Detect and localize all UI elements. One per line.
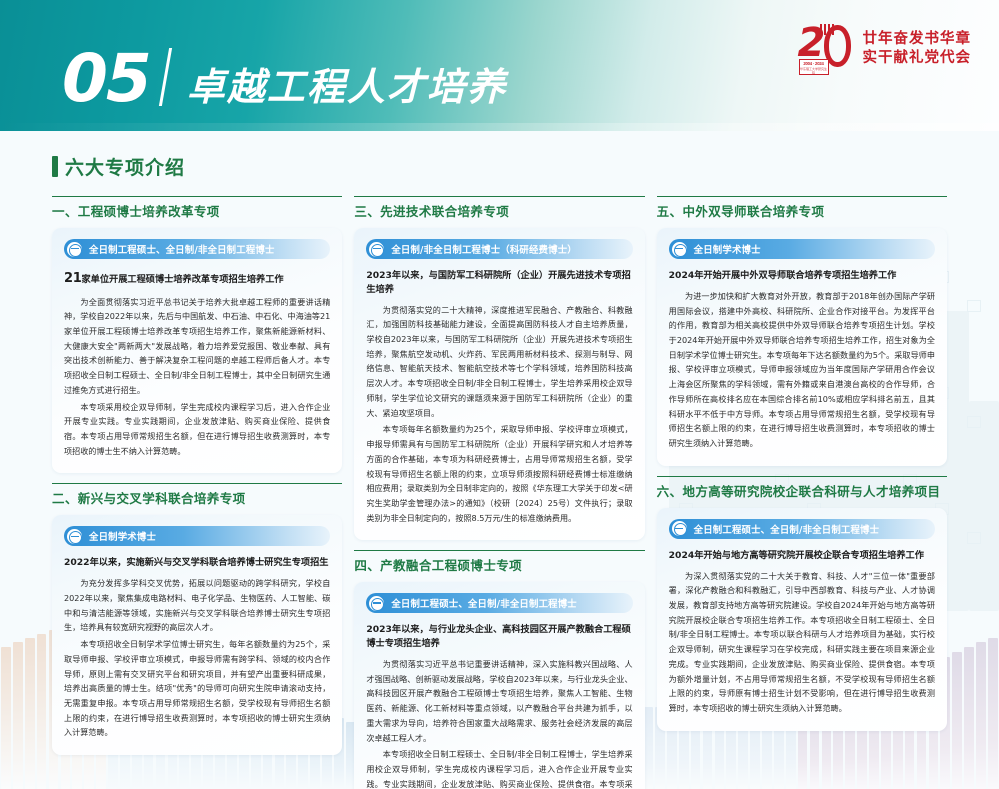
degree-type-icon [369, 242, 384, 257]
section-4-badge: 全日制工程硕士、全日制/非全日制工程博士 [366, 593, 632, 613]
page-title: 卓越工程人才培养 [187, 68, 507, 106]
section-5-card: 全日制学术博士 2024年开始开展中外双导师联合培养专项招生培养工作 为进一步加… [657, 228, 947, 466]
section-2-header: 二、新兴与交叉学科联合培养专项 [52, 483, 342, 506]
section-1-header: 一、工程硕博士培养改革专项 [52, 196, 342, 219]
anniversary-slogan: 廿年奋发书华章 实干献礼党代会 [863, 30, 972, 67]
section-1-heading: 一、工程硕博士培养改革专项 [52, 204, 342, 219]
section-1-lead-text: 家单位开展工程硕博士培养改革专项招生培养工作 [82, 274, 284, 285]
anniversary-mark-icon: 2 2004 · 2024 华东理工大学研究生院 [798, 22, 854, 76]
degree-type-icon [672, 242, 687, 257]
section-5-badge-label: 全日制学术博士 [694, 242, 761, 256]
sections-grid: 六大专项介绍 一、工程硕博士培养改革专项 全日制工程硕士、全日制/非全日制工程博… [0, 131, 999, 789]
section-2-badge-label: 全日制学术博士 [89, 529, 156, 543]
section-2-badge: 全日制学术博士 [64, 526, 330, 546]
column-2: 三、先进技术联合培养专项 全日制/非全日制工程博士（科研经费博士） 2023年以… [354, 153, 644, 789]
column-3: 五、中外双导师联合培养专项 全日制学术博士 2024年开始开展中外双导师联合培养… [657, 153, 947, 789]
section-6-badge-label: 全日制工程硕士、全日制/非全日制工程博士 [694, 522, 880, 536]
section-1: 一、工程硕博士培养改革专项 全日制工程硕士、全日制/非全日制工程博士 21家单位… [52, 196, 342, 473]
column-3-spacer [657, 153, 947, 196]
section-5-header: 五、中外双导师联合培养专项 [657, 196, 947, 219]
column-2-spacer [354, 153, 644, 196]
section-1-badge-label: 全日制工程硕士、全日制/非全日制工程博士 [89, 242, 275, 256]
section-3-paragraph-2: 本专项每年名额数量约为25个，采取导师申报、学校评审立项模式，申报导师需具有与国… [366, 422, 632, 525]
main-title: 六大专项介绍 [52, 153, 342, 179]
section-4-badge-label: 全日制工程硕士、全日制/非全日制工程博士 [391, 596, 577, 610]
section-6: 六、地方高等研究院校企联合科研与人才培养项目 全日制工程硕士、全日制/非全日制工… [657, 476, 947, 731]
section-5-paragraph-1: 为进一步加快和扩大教育对外开放，教育部于2018年创办国际产学研用国际会议，搭建… [669, 289, 935, 451]
section-4-card: 全日制工程硕士、全日制/非全日制工程博士 2023年以来，与行业龙头企业、高科技… [354, 582, 644, 789]
section-2-paragraph-2: 本专项招收全日制学术学位博士研究生，每年名额数量约为25个，采取导师申报、学校评… [64, 637, 330, 740]
section-3-badge: 全日制/非全日制工程博士（科研经费博士） [366, 239, 632, 259]
degree-type-icon [672, 521, 687, 536]
section-1-badge: 全日制工程硕士、全日制/非全日制工程博士 [64, 239, 330, 259]
section-5-heading: 五、中外双导师联合培养专项 [657, 204, 947, 219]
section-6-lead: 2024年开始与地方高等研究院开展校企联合专项招生培养工作 [669, 549, 935, 563]
section-4-paragraph-1: 为贯彻落实习近平总书记重要讲话精神，深入实施科教兴国战略、人才强国战略、创新驱动… [366, 657, 632, 745]
section-6-card: 全日制工程硕士、全日制/非全日制工程博士 2024年开始与地方高等研究院开展校企… [657, 508, 947, 731]
section-4: 四、产教融合工程硕博士专项 全日制工程硕士、全日制/非全日制工程博士 2023年… [354, 550, 644, 789]
section-number: 05 [62, 49, 150, 110]
section-4-paragraph-2: 本专项招收全日制工程硕士、全日制/非全日制工程博士，学生培养采用校企双导师制，学… [366, 747, 632, 789]
section-6-header: 六、地方高等研究院校企联合科研与人才培养项目 [657, 476, 947, 499]
section-1-paragraph-1: 为全面贯彻落实习近平总书记关于培养大批卓越工程师的重要讲话精神，学校自2022年… [64, 295, 330, 398]
page-body: 六大专项介绍 一、工程硕博士培养改革专项 全日制工程硕士、全日制/非全日制工程博… [0, 131, 999, 789]
degree-type-icon [369, 596, 384, 611]
column-1: 六大专项介绍 一、工程硕博士培养改革专项 全日制工程硕士、全日制/非全日制工程博… [52, 153, 342, 789]
section-1-card: 全日制工程硕士、全日制/非全日制工程博士 21家单位开展工程硕博士培养改革专项招… [52, 228, 342, 473]
section-6-badge: 全日制工程硕士、全日制/非全日制工程博士 [669, 519, 935, 539]
section-1-lead: 21家单位开展工程硕博士培养改革专项招生培养工作 [64, 269, 330, 289]
section-1-paragraph-2: 本专项采用校企双导师制，学生完成校内课程学习后，进入合作企业开展专业实践。专业实… [64, 400, 330, 459]
anniversary-years: 2004 · 2024 华东理工大学研究生院 [799, 59, 829, 75]
section-3-paragraph-1: 为贯彻落实党的二十大精神，深度推进军民融合、产教融合、科教融汇，加强国防科技基础… [366, 303, 632, 421]
section-1-lead-number: 21 [64, 271, 82, 286]
page-header: 05 卓越工程人才培养 2 2004 · 2024 华东理工大学研究生院 廿年奋… [0, 0, 999, 131]
anniversary-logo: 2 2004 · 2024 华东理工大学研究生院 廿年奋发书华章 实干献礼党代会 [798, 22, 972, 76]
degree-type-icon [67, 242, 82, 257]
section-5-badge: 全日制学术博士 [669, 239, 935, 259]
section-3-heading: 三、先进技术联合培养专项 [354, 204, 644, 219]
anniversary-slogan-line1: 廿年奋发书华章 [863, 30, 972, 49]
section-2-lead: 2022年以来，实施新兴与交叉学科联合培养博士研究生专项招生 [64, 556, 330, 570]
anniversary-years-sub: 华东理工大学研究生院 [800, 67, 828, 75]
header-title-group: 05 卓越工程人才培养 [62, 48, 507, 110]
section-6-heading: 六、地方高等研究院校企联合科研与人才培养项目 [657, 484, 947, 499]
section-3-lead: 2023年以来，与国防军工科研院所（企业）开展先进技术专项招生培养 [366, 269, 632, 297]
section-3-badge-label: 全日制/非全日制工程博士（科研经费博士） [391, 242, 577, 256]
main-title-text: 六大专项介绍 [65, 153, 185, 180]
section-5-lead: 2024年开始开展中外双导师联合培养专项招生培养工作 [669, 269, 935, 283]
section-2-paragraph-1: 为充分发挥多学科交叉优势，拓展以问题驱动的跨学科研究，学校自2022年以来，聚焦… [64, 576, 330, 635]
anniversary-slogan-line2: 实干献礼党代会 [863, 49, 972, 68]
degree-type-icon [67, 529, 82, 544]
section-3-header: 三、先进技术联合培养专项 [354, 196, 644, 219]
section-5: 五、中外双导师联合培养专项 全日制学术博士 2024年开始开展中外双导师联合培养… [657, 196, 947, 466]
section-4-lead: 2023年以来，与行业龙头企业、高科技园区开展产教融合工程硕博士专项招生培养 [366, 623, 632, 651]
section-3: 三、先进技术联合培养专项 全日制/非全日制工程博士（科研经费博士） 2023年以… [354, 196, 644, 540]
section-2: 二、新兴与交叉学科联合培养专项 全日制学术博士 2022年以来，实施新兴与交叉学… [52, 483, 342, 755]
section-2-heading: 二、新兴与交叉学科联合培养专项 [52, 491, 342, 506]
section-6-paragraph-1: 为深入贯彻落实党的二十大关于教育、科技、人才"三位一体"重要部署，深化产教融合和… [669, 569, 935, 716]
header-divider [159, 48, 172, 106]
section-2-card: 全日制学术博士 2022年以来，实施新兴与交叉学科联合培养博士研究生专项招生 为… [52, 515, 342, 755]
section-4-header: 四、产教融合工程硕博士专项 [354, 550, 644, 573]
section-3-card: 全日制/非全日制工程博士（科研经费博士） 2023年以来，与国防军工科研院所（企… [354, 228, 644, 540]
title-tick-icon [52, 156, 58, 177]
section-4-heading: 四、产教融合工程硕博士专项 [354, 558, 644, 573]
